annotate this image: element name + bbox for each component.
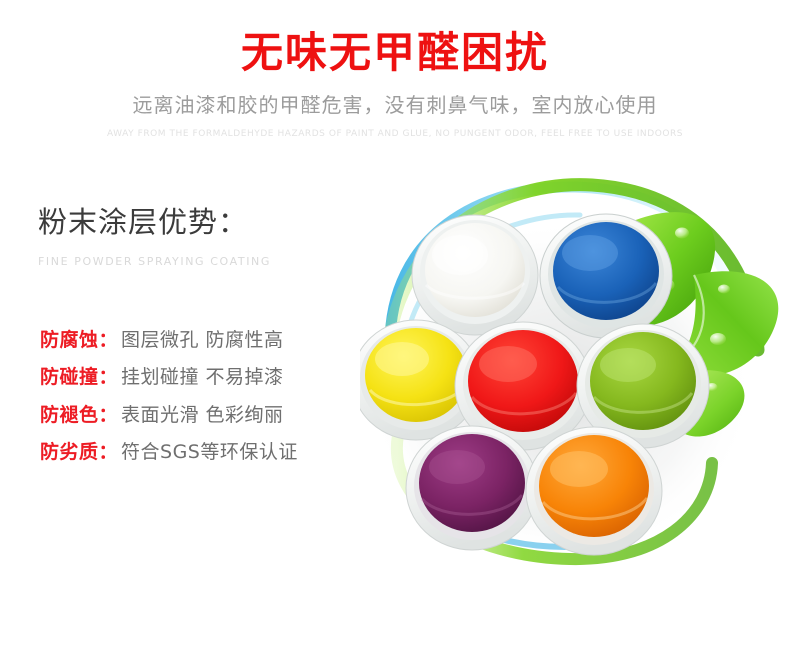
feature-key: 防褪色： [40, 404, 118, 426]
purple-powder-jar [406, 426, 538, 550]
orange-powder-jar [526, 427, 662, 555]
advantages-column: 粉末涂层优势： FINE POWDER SPRAYING COATING 防腐蚀… [38, 205, 368, 268]
page-subtitle-english: AWAY FROM THE FORMALDEHYDE HAZARDS OF PA… [0, 119, 790, 141]
page-title: 无味无甲醛困扰 [0, 0, 790, 75]
feature-list: 防腐蚀：图层微孔 防腐性高 防碰撞：挂划碰撞 不易掉漆 防褪色：表面光滑 色彩绚… [40, 328, 370, 477]
feature-value: 挂划碰撞 不易掉漆 [118, 366, 284, 388]
blue-powder-jar [540, 214, 672, 338]
feature-key: 防碰撞： [40, 366, 118, 388]
feature-value: 图层微孔 防腐性高 [118, 329, 284, 351]
section-heading: 粉末涂层优势： [38, 205, 368, 240]
list-item: 防腐蚀：图层微孔 防腐性高 [40, 328, 370, 352]
product-image [360, 175, 790, 570]
section-heading-english: FINE POWDER SPRAYING COATING [38, 240, 368, 268]
white-powder-jar [412, 215, 538, 335]
feature-key: 防劣质： [40, 441, 118, 463]
list-item: 防褪色：表面光滑 色彩绚丽 [40, 403, 370, 427]
feature-value: 表面光滑 色彩绚丽 [118, 404, 284, 426]
header-block: 无味无甲醛困扰 远离油漆和胶的甲醛危害，没有刺鼻气味，室内放心使用 AWAY F… [0, 0, 790, 141]
list-item: 防碰撞：挂划碰撞 不易掉漆 [40, 365, 370, 389]
feature-value: 符合SGS等环保认证 [118, 441, 298, 463]
page-subtitle: 远离油漆和胶的甲醛危害，没有刺鼻气味，室内放心使用 [0, 75, 790, 119]
promo-page: 无味无甲醛困扰 远离油漆和胶的甲醛危害，没有刺鼻气味，室内放心使用 AWAY F… [0, 0, 790, 662]
feature-key: 防腐蚀： [40, 329, 118, 351]
list-item: 防劣质：符合SGS等环保认证 [40, 440, 370, 464]
